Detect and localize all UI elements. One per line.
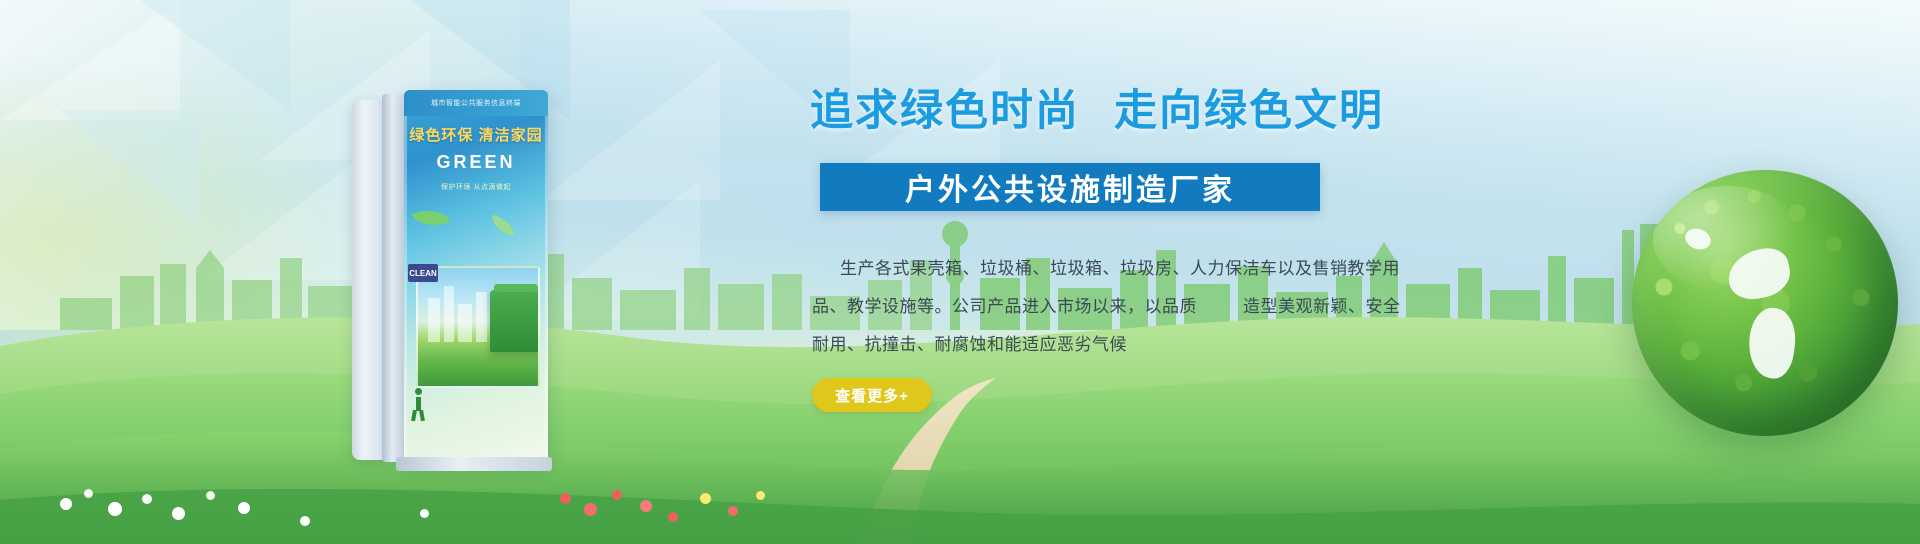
banner-subtitle-text: 户外公共设施制造厂家 <box>905 165 1235 209</box>
banner-copy-block: 追求绿色时尚走向绿色文明 户外公共设施制造厂家 生产各式果壳箱、垃圾桶、垃圾箱、… <box>0 0 1920 544</box>
banner-headline: 追求绿色时尚走向绿色文明 <box>810 76 1384 138</box>
hero-banner: 城市智能公共服务信息终端 绿色环保 清洁家园 GREEN 保护环境 从点滴做起 … <box>0 0 1920 544</box>
banner-description: 生产各式果壳箱、垃圾桶、垃圾箱、垃圾房、人力保洁车以及售销教学用 品、教学设施等… <box>840 250 1420 364</box>
view-more-label: 查看更多+ <box>835 385 909 406</box>
description-line-2: 品、教学设施等。公司产品进入市场以来，以品质造型美观新颖、安全 <box>812 288 1420 326</box>
description-line-1: 生产各式果壳箱、垃圾桶、垃圾箱、垃圾房、人力保洁车以及售销教学用 <box>840 250 1420 288</box>
headline-part-1: 追求绿色时尚 <box>810 87 1080 135</box>
headline-part-2: 走向绿色文明 <box>1114 87 1384 135</box>
description-line-2b: 造型美观新颖、安全 <box>1243 297 1401 316</box>
description-line-3: 耐用、抗撞击、耐腐蚀和能适应恶劣气候 <box>812 326 1420 364</box>
description-line-2a: 品、教学设施等。公司产品进入市场以来，以品质 <box>812 297 1197 316</box>
banner-subtitle-bar: 户外公共设施制造厂家 <box>820 163 1320 211</box>
view-more-button[interactable]: 查看更多+ <box>812 378 932 412</box>
